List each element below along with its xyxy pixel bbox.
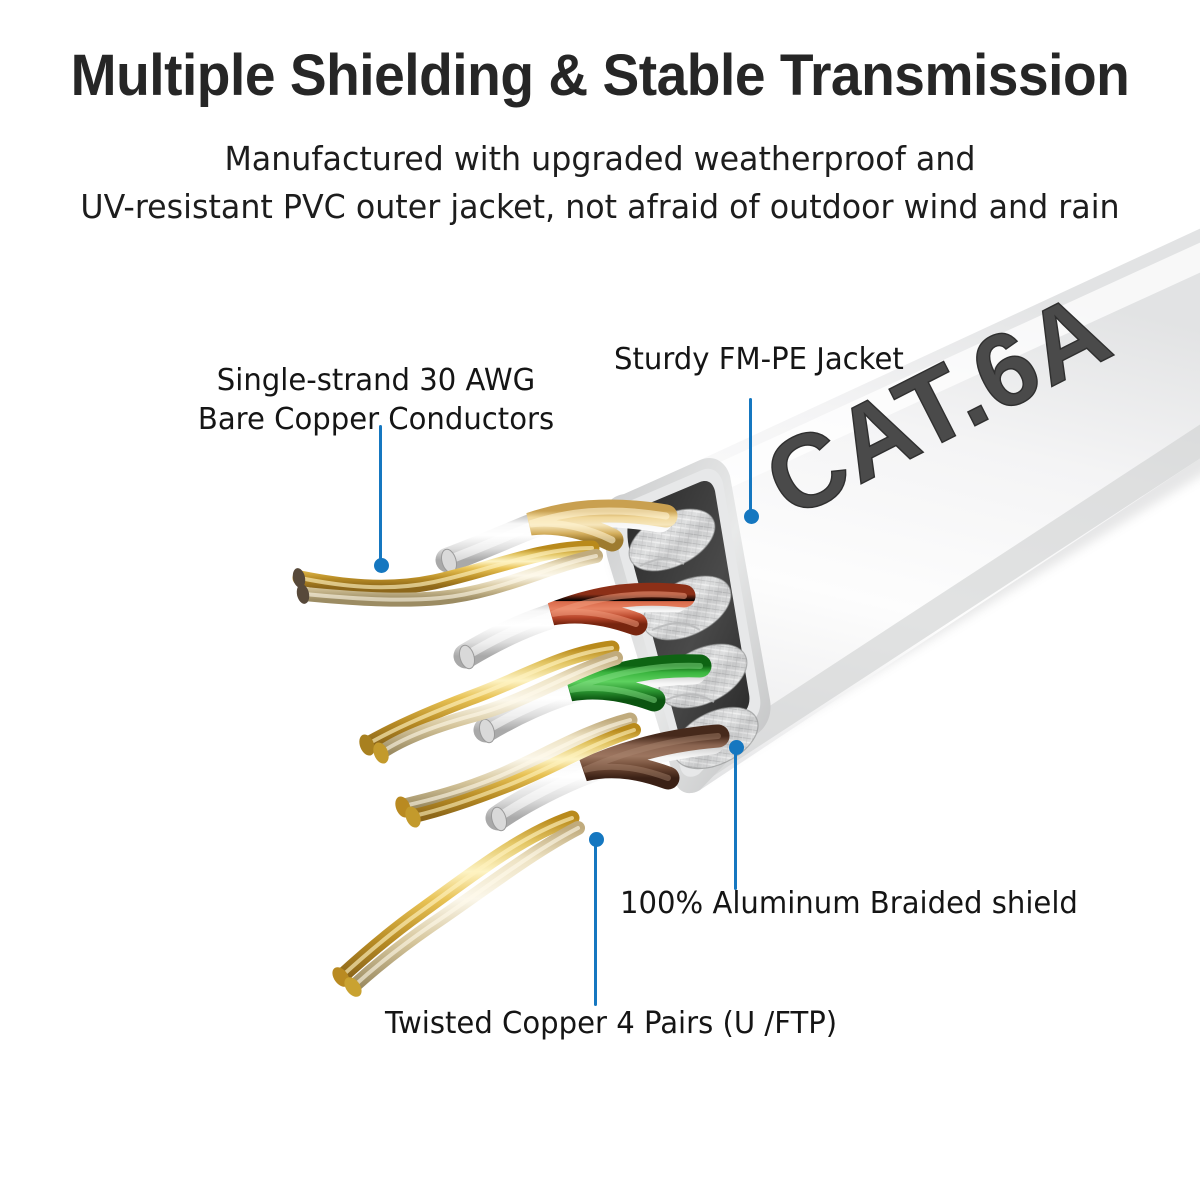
page-title: Multiple Shielding & Stable Transmission xyxy=(30,46,1170,107)
pair-red xyxy=(457,594,684,670)
copper-pair-d xyxy=(329,818,578,1000)
callout-aluminum-braided-shield: 100% Aluminum Braided shield xyxy=(620,884,1078,923)
cable-outer-jacket xyxy=(605,224,1200,793)
leader-dot-icon xyxy=(589,832,604,847)
leader-line-jacket xyxy=(742,398,762,526)
leader-line-twisted-copper xyxy=(587,832,607,1006)
leader-dot-icon xyxy=(374,558,389,573)
bare-copper-conductors xyxy=(291,548,634,1000)
leader-dot-icon xyxy=(744,509,759,524)
leader-stem xyxy=(594,844,597,1006)
leader-line-single-strand xyxy=(372,425,392,573)
callout-twisted-copper-pairs: Twisted Copper 4 Pairs (U /FTP) xyxy=(385,1004,837,1043)
pair-brown xyxy=(489,736,718,832)
leader-dot-icon xyxy=(729,740,744,755)
jacket-print-label: CAT.6A xyxy=(748,270,1129,541)
subtitle-line-2: UV-resistant PVC outer jacket, not afrai… xyxy=(24,183,1176,231)
page-subtitle: Manufactured with upgraded weatherproof … xyxy=(24,135,1176,231)
twisted-pairs xyxy=(439,511,718,833)
aluminum-braided-shields xyxy=(619,496,768,781)
pair-orange xyxy=(439,511,666,575)
callout-line-2: Bare Copper Conductors xyxy=(196,400,557,439)
leader-stem xyxy=(734,752,737,890)
pair-green xyxy=(477,666,700,745)
copper-pair-c xyxy=(392,720,634,830)
leader-stem xyxy=(749,398,752,516)
callout-line-1: Single-strand 30 AWG xyxy=(196,361,557,400)
callout-sturdy-jacket: Sturdy FM-PE Jacket xyxy=(614,340,904,379)
copper-pair-a xyxy=(291,548,596,605)
infographic-canvas: Multiple Shielding & Stable Transmission… xyxy=(0,0,1200,1200)
leader-line-shield xyxy=(727,740,747,890)
callout-single-strand-awg: Single-strand 30 AWG Bare Copper Conduct… xyxy=(196,361,557,439)
subtitle-line-1: Manufactured with upgraded weatherproof … xyxy=(224,139,975,178)
copper-pair-b xyxy=(356,648,616,766)
leader-stem xyxy=(379,425,382,565)
cable-cut-face-interior xyxy=(627,481,749,762)
